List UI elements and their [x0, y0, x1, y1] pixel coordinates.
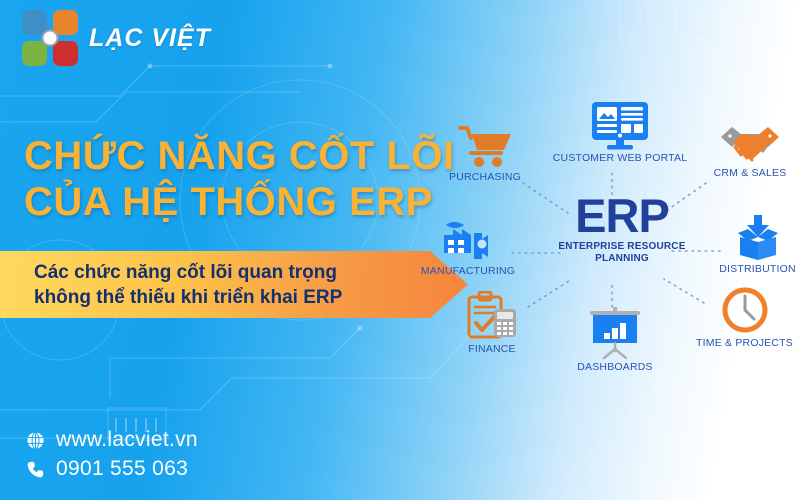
module-label-customer-web-portal: CUSTOMER WEB PORTAL — [540, 152, 700, 164]
module-node-time-projects[interactable]: TIME & PROJECTS — [682, 285, 800, 349]
module-label-distribution: DISTRIBUTION — [705, 263, 800, 275]
module-node-finance[interactable]: FINANCE — [442, 291, 542, 355]
subtitle-text: Các chức năng cốt lõi quan trọng không t… — [0, 260, 342, 310]
module-node-customer-web-portal[interactable]: CUSTOMER WEB PORTAL — [540, 100, 700, 164]
contact-phone[interactable]: 0901 555 063 — [26, 457, 198, 481]
subtitle-line1: Các chức năng cốt lõi quan trọng — [34, 262, 337, 283]
subtitle-arrow-banner: Các chức năng cốt lõi quan trọng không t… — [0, 251, 468, 318]
four-square-flower-logo-icon — [22, 10, 78, 66]
erp-expansion-line2: PLANNING — [595, 253, 649, 264]
page-title-line1: CHỨC NĂNG CỐT LÕI — [24, 134, 455, 178]
monitor-webpage-icon — [588, 100, 652, 150]
box-download-icon — [732, 213, 784, 261]
shopping-cart-icon — [456, 123, 514, 169]
clock-icon — [720, 285, 770, 335]
subtitle-line2: không thể thiếu khi triển khai ERP — [34, 285, 342, 310]
module-node-purchasing[interactable]: PURCHASING — [430, 123, 540, 183]
contact-website[interactable]: www.lacviet.vn — [26, 428, 198, 452]
erp-modules-diagram: ERP ENTERPRISE RESOURCE PLANNING PURCHAS… — [420, 95, 800, 400]
factory-gear-icon — [438, 215, 498, 263]
logo-petal-green — [22, 41, 47, 66]
erp-acronym: ERP — [552, 193, 692, 239]
clipboard-calculator-icon — [465, 291, 519, 341]
footer-contact: www.lacviet.vn 0901 555 063 — [26, 428, 198, 486]
erp-expansion-line1: ENTERPRISE RESOURCE — [558, 241, 685, 252]
module-label-manufacturing: MANUFACTURING — [408, 265, 528, 277]
erp-core-functions-banner: LẠC VIỆT CHỨC NĂNG CỐT LÕI CỦA HỆ THỐNG … — [0, 0, 800, 500]
website-text: www.lacviet.vn — [56, 428, 198, 452]
page-title: CHỨC NĂNG CỐT LÕI CỦA HỆ THỐNG ERP — [24, 133, 455, 225]
module-label-purchasing: PURCHASING — [430, 171, 540, 183]
module-label-time-projects: TIME & PROJECTS — [682, 337, 800, 349]
phone-text: 0901 555 063 — [56, 457, 188, 481]
module-node-dashboards[interactable]: DASHBOARDS — [555, 307, 675, 373]
logo-petal-orange — [53, 10, 78, 35]
presentation-chart-icon — [586, 307, 644, 359]
brand-logo[interactable]: LẠC VIỆT — [22, 10, 211, 66]
page-title-line2: CỦA HỆ THỐNG ERP — [24, 179, 455, 225]
module-node-manufacturing[interactable]: MANUFACTURING — [408, 215, 528, 277]
erp-center-label: ERP ENTERPRISE RESOURCE PLANNING — [552, 193, 692, 265]
module-label-dashboards: DASHBOARDS — [555, 361, 675, 373]
phone-icon — [26, 460, 45, 479]
logo-petal-red — [53, 41, 78, 66]
module-node-crm-sales[interactable]: CRM & SALES — [695, 123, 800, 179]
module-label-finance: FINANCE — [442, 343, 542, 355]
handshake-icon — [719, 123, 781, 165]
logo-center-circle — [42, 30, 59, 47]
globe-icon — [26, 431, 45, 450]
brand-name: LẠC VIỆT — [89, 24, 211, 53]
module-label-crm-sales: CRM & SALES — [695, 167, 800, 179]
erp-expansion: ENTERPRISE RESOURCE PLANNING — [552, 241, 692, 265]
module-node-distribution[interactable]: DISTRIBUTION — [705, 213, 800, 275]
